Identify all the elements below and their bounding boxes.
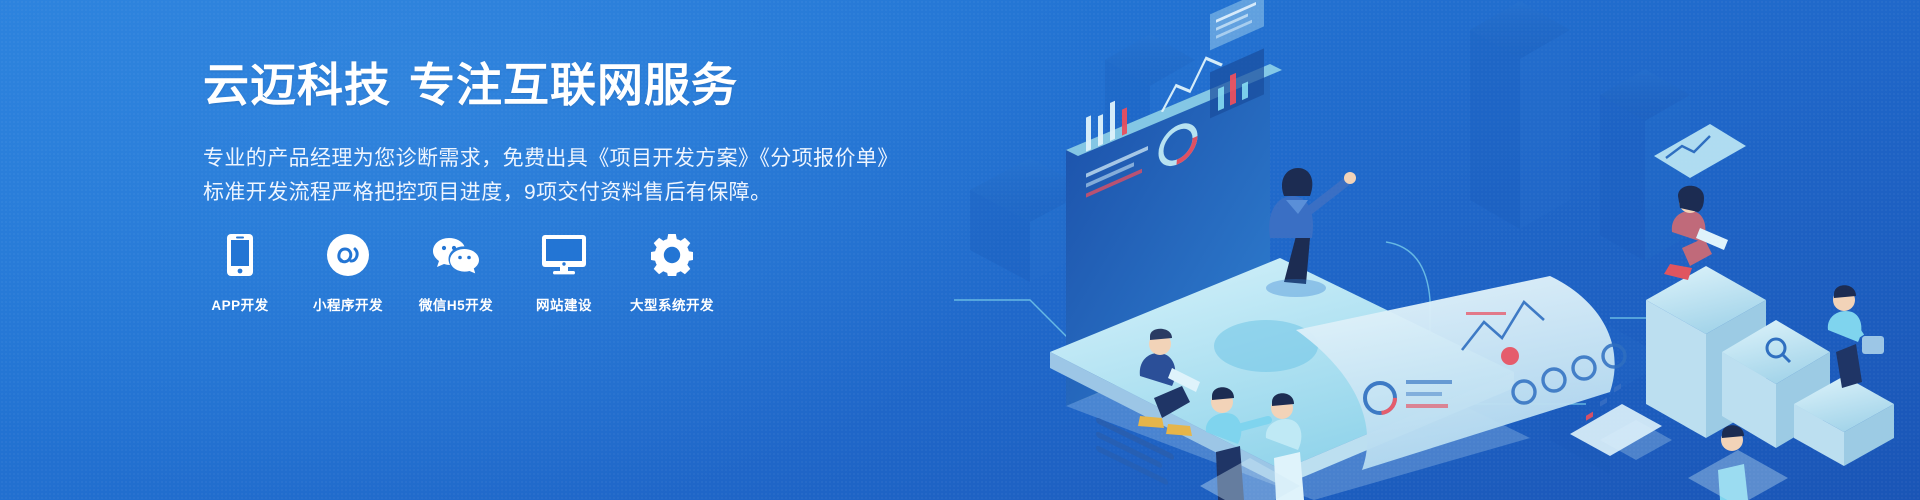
wechat-icon — [433, 232, 479, 278]
hero-copy: 云迈科技专注互联网服务 专业的产品经理为您诊断需求，免费出具《项目开发方案》《分… — [203, 62, 963, 210]
service-label: 网站建设 — [536, 294, 592, 314]
hero-illustration — [910, 0, 1920, 500]
service-item-mini-program[interactable]: 小程序开发 — [311, 232, 385, 314]
service-item-large-system[interactable]: 大型系统开发 — [635, 232, 709, 314]
service-label: 小程序开发 — [313, 294, 383, 314]
service-list: APP开发 小程序开发 — [203, 232, 709, 314]
monitor-icon — [542, 232, 586, 278]
service-label: APP开发 — [211, 294, 268, 314]
headline-brand: 云迈科技 — [203, 59, 391, 111]
mini-program-icon — [327, 232, 369, 278]
mobile-phone-icon — [227, 232, 253, 278]
page-title: 云迈科技专注互联网服务 — [203, 62, 963, 108]
service-item-wechat-h5[interactable]: 微信H5开发 — [419, 232, 493, 314]
subtitle-line-2: 标准开发流程严格把控项目进度，9项交付资料售后有保障。 — [203, 176, 963, 210]
gear-icon — [651, 232, 693, 278]
hero-banner: 云迈科技专注互联网服务 专业的产品经理为您诊断需求，免费出具《项目开发方案》《分… — [0, 0, 1920, 500]
subtitle-line-1: 专业的产品经理为您诊断需求，免费出具《项目开发方案》《分项报价单》 — [203, 142, 963, 176]
service-label: 大型系统开发 — [630, 294, 714, 314]
service-label: 微信H5开发 — [419, 294, 493, 314]
service-item-website[interactable]: 网站建设 — [527, 232, 601, 314]
headline-tagline: 专注互联网服务 — [409, 59, 738, 111]
service-item-app[interactable]: APP开发 — [203, 232, 277, 314]
